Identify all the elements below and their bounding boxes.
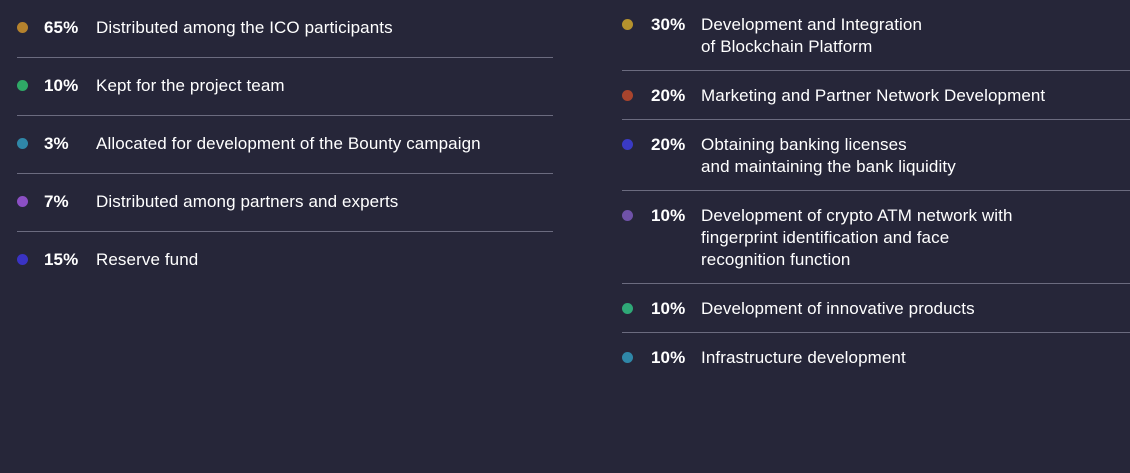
legend-percent: 10% (44, 75, 94, 97)
legend-dot-indigo (622, 139, 633, 150)
legend-dot-green (622, 303, 633, 314)
legend-label: Development of crypto ATM network with f… (701, 205, 1013, 271)
legend-label: Distributed among partners and experts (96, 191, 398, 213)
legend-dot-purple (622, 210, 633, 221)
legend-dot-green (17, 80, 28, 91)
legend-board: 65% Distributed among the ICO participan… (0, 0, 1130, 473)
token-distribution-legend: 65% Distributed among the ICO participan… (0, 0, 600, 290)
legend-percent: 7% (44, 191, 94, 213)
legend-dot-purple (17, 196, 28, 207)
legend-percent: 3% (44, 133, 94, 155)
legend-percent: 65% (44, 17, 94, 39)
list-item[interactable]: 10% Development of innovative products (622, 284, 1130, 333)
legend-percent: 10% (651, 205, 699, 227)
legend-label: Obtaining banking licenses and maintaini… (701, 134, 956, 178)
list-item[interactable]: 15% Reserve fund (17, 232, 600, 290)
list-item[interactable]: 10% Kept for the project team (17, 58, 600, 116)
legend-dot-teal (17, 138, 28, 149)
legend-label: Infrastructure development (701, 347, 906, 369)
list-item[interactable]: 3% Allocated for development of the Boun… (17, 116, 600, 174)
list-item[interactable]: 30% Development and Integration of Block… (622, 0, 1130, 71)
legend-label: Kept for the project team (96, 75, 285, 97)
legend-dot-gold (17, 22, 28, 33)
legend-dot-indigo (17, 254, 28, 265)
list-item[interactable]: 65% Distributed among the ICO participan… (17, 0, 600, 58)
list-item[interactable]: 20% Obtaining banking licenses and maint… (622, 120, 1130, 191)
legend-dot-gold (622, 19, 633, 30)
legend-dot-teal (622, 352, 633, 363)
legend-percent: 15% (44, 249, 94, 271)
legend-label: Distributed among the ICO participants (96, 17, 393, 39)
legend-percent: 10% (651, 298, 699, 320)
legend-label: Allocated for development of the Bounty … (96, 133, 481, 155)
legend-label: Reserve fund (96, 249, 198, 271)
list-item[interactable]: 20% Marketing and Partner Network Develo… (622, 71, 1130, 120)
legend-label: Development of innovative products (701, 298, 975, 320)
legend-percent: 10% (651, 347, 699, 369)
list-item[interactable]: 10% Infrastructure development (622, 333, 1130, 382)
legend-percent: 30% (651, 14, 699, 36)
funds-allocation-legend: 30% Development and Integration of Block… (600, 0, 1130, 382)
list-item[interactable]: 7% Distributed among partners and expert… (17, 174, 600, 232)
legend-percent: 20% (651, 134, 699, 156)
legend-label: Development and Integration of Blockchai… (701, 14, 922, 58)
legend-label: Marketing and Partner Network Developmen… (701, 85, 1045, 107)
legend-percent: 20% (651, 85, 699, 107)
list-item[interactable]: 10% Development of crypto ATM network wi… (622, 191, 1130, 284)
legend-dot-rust (622, 90, 633, 101)
